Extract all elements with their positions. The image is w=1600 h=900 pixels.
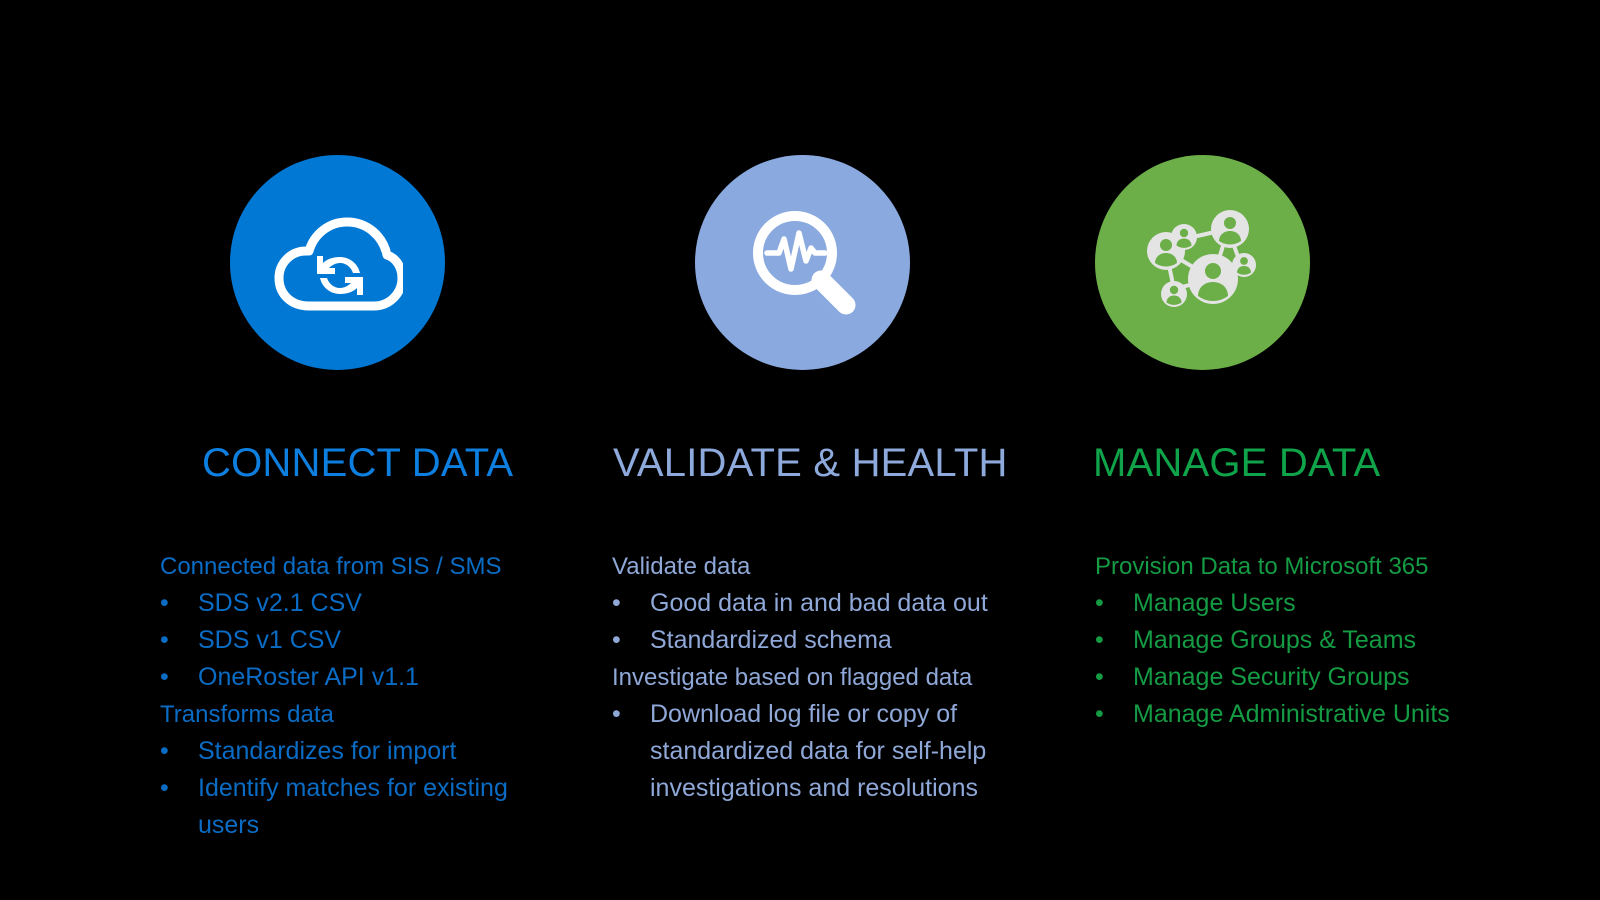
bullet-label: Standardizes for import bbox=[198, 733, 520, 770]
body-validate-health: Validate data • Good data in and bad dat… bbox=[612, 548, 1012, 807]
bullet-item: • Manage Groups & Teams bbox=[1095, 622, 1465, 659]
bullet-glyph: • bbox=[160, 659, 169, 696]
bullet-item: • Manage Users bbox=[1095, 585, 1465, 622]
bullet-item: • OneRoster API v1.1 bbox=[160, 659, 520, 696]
bullet-label: Standardized schema bbox=[650, 622, 1012, 659]
bullet-glyph: • bbox=[1095, 659, 1104, 696]
people-network-icon-circle bbox=[1095, 155, 1310, 370]
bullet-item: • Manage Administrative Units bbox=[1095, 696, 1465, 733]
slide-canvas: CONNECT DATA Connected data from SIS / S… bbox=[0, 0, 1600, 900]
bullet-label: Download log file or copy of standardize… bbox=[650, 696, 1012, 807]
bullet-glyph: • bbox=[160, 585, 169, 622]
people-network-icon bbox=[1138, 203, 1268, 323]
bullet-glyph: • bbox=[160, 622, 169, 659]
bullet-label: Good data in and bad data out bbox=[650, 585, 1012, 622]
heading-connect-data: CONNECT DATA bbox=[202, 440, 602, 486]
bullet-glyph: • bbox=[160, 770, 169, 807]
bullet-glyph: • bbox=[1095, 696, 1104, 733]
bullet-label: SDS v2.1 CSV bbox=[198, 585, 520, 622]
bullet-glyph: • bbox=[612, 585, 621, 622]
bullet-item: • Identify matches for existing users bbox=[160, 770, 520, 844]
bullet-label: Identify matches for existing users bbox=[198, 770, 520, 844]
lead-line: Investigate based on flagged data bbox=[612, 659, 1012, 696]
bullet-item: • Standardized schema bbox=[612, 622, 1012, 659]
body-connect-data: Connected data from SIS / SMS • SDS v2.1… bbox=[160, 548, 520, 844]
bullet-glyph: • bbox=[1095, 585, 1104, 622]
lead-line: Transforms data bbox=[160, 696, 520, 733]
cloud-sync-icon-circle bbox=[230, 155, 445, 370]
magnifier-pulse-icon bbox=[743, 203, 863, 323]
bullet-glyph: • bbox=[160, 733, 169, 770]
bullet-item: • SDS v2.1 CSV bbox=[160, 585, 520, 622]
lead-line: Provision Data to Microsoft 365 bbox=[1095, 548, 1465, 585]
heading-manage-data: MANAGE DATA bbox=[1093, 440, 1493, 486]
bullet-label: Manage Security Groups bbox=[1133, 659, 1465, 696]
column-manage-data: MANAGE DATA Provision Data to Microsoft … bbox=[1075, 0, 1475, 900]
bullet-label: Manage Administrative Units bbox=[1133, 696, 1465, 733]
bullet-item: • Manage Security Groups bbox=[1095, 659, 1465, 696]
bullet-item: • Good data in and bad data out bbox=[612, 585, 1012, 622]
lead-line: Connected data from SIS / SMS bbox=[160, 548, 520, 585]
column-connect-data: CONNECT DATA Connected data from SIS / S… bbox=[140, 0, 540, 900]
bullet-glyph: • bbox=[612, 696, 621, 733]
cloud-sync-icon bbox=[273, 210, 403, 315]
bullet-label: Manage Groups & Teams bbox=[1133, 622, 1465, 659]
bullet-glyph: • bbox=[1095, 622, 1104, 659]
body-manage-data: Provision Data to Microsoft 365 • Manage… bbox=[1095, 548, 1465, 733]
bullet-glyph: • bbox=[612, 622, 621, 659]
bullet-label: Manage Users bbox=[1133, 585, 1465, 622]
heading-validate-health: VALIDATE & HEALTH bbox=[613, 440, 1043, 486]
bullet-label: OneRoster API v1.1 bbox=[198, 659, 520, 696]
lead-line: Validate data bbox=[612, 548, 1012, 585]
magnifier-pulse-icon-circle bbox=[695, 155, 910, 370]
bullet-item: • Download log file or copy of standardi… bbox=[612, 696, 1012, 807]
bullet-item: • Standardizes for import bbox=[160, 733, 520, 770]
column-validate-health: VALIDATE & HEALTH Validate data • Good d… bbox=[590, 0, 1020, 900]
bullet-item: • SDS v1 CSV bbox=[160, 622, 520, 659]
bullet-label: SDS v1 CSV bbox=[198, 622, 520, 659]
